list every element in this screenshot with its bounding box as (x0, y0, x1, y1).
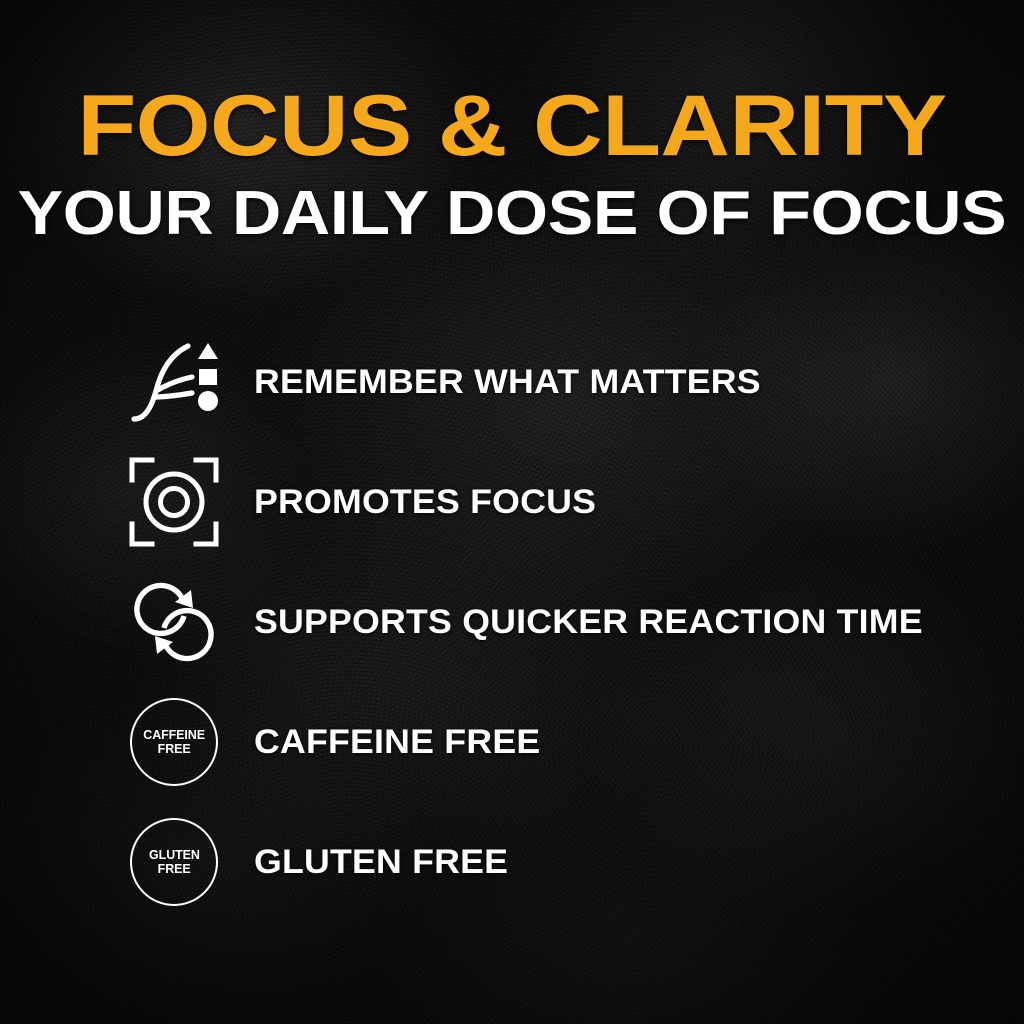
badge-line-2: FREE (158, 742, 191, 756)
feature-row: REMEMBER WHAT MATTERS (118, 322, 978, 442)
feature-row: GLUTEN FREE GLUTEN FREE (118, 802, 978, 922)
feature-label: PROMOTES FOCUS (254, 483, 596, 522)
feature-row: CAFFEINE FREE CAFFEINE FREE (118, 682, 978, 802)
memory-branches-icon (118, 327, 230, 437)
feature-label: REMEMBER WHAT MATTERS (254, 363, 761, 402)
badge-line-1: GLUTEN (149, 848, 200, 862)
caffeine-free-badge: CAFFEINE FREE (130, 698, 218, 786)
feature-label: CAFFEINE FREE (254, 723, 540, 762)
feature-list: REMEMBER WHAT MATTERS PROMOTES FOCUS (118, 322, 978, 922)
headline-title: FOCUS & CLARITY (0, 84, 1024, 169)
feature-row: SUPPORTS QUICKER REACTION TIME (118, 562, 978, 682)
reaction-loop-arrows-icon (118, 567, 230, 677)
feature-label: SUPPORTS QUICKER REACTION TIME (254, 603, 923, 642)
gluten-free-badge: GLUTEN FREE (130, 818, 218, 906)
focus-viewfinder-icon (118, 447, 230, 557)
feature-label: GLUTEN FREE (254, 843, 508, 882)
poster-content: FOCUS & CLARITY YOUR DAILY DOSE OF FOCUS (0, 0, 1024, 1024)
product-benefits-poster: FOCUS & CLARITY YOUR DAILY DOSE OF FOCUS (0, 0, 1024, 1024)
headline-block: FOCUS & CLARITY YOUR DAILY DOSE OF FOCUS (0, 84, 1024, 245)
gluten-free-badge-icon: GLUTEN FREE (118, 807, 230, 917)
feature-row: PROMOTES FOCUS (118, 442, 978, 562)
badge-line-2: FREE (158, 862, 191, 876)
headline-subtitle: YOUR DAILY DOSE OF FOCUS (0, 183, 1024, 245)
caffeine-free-badge-icon: CAFFEINE FREE (118, 687, 230, 797)
badge-line-1: CAFFEINE (143, 728, 205, 742)
